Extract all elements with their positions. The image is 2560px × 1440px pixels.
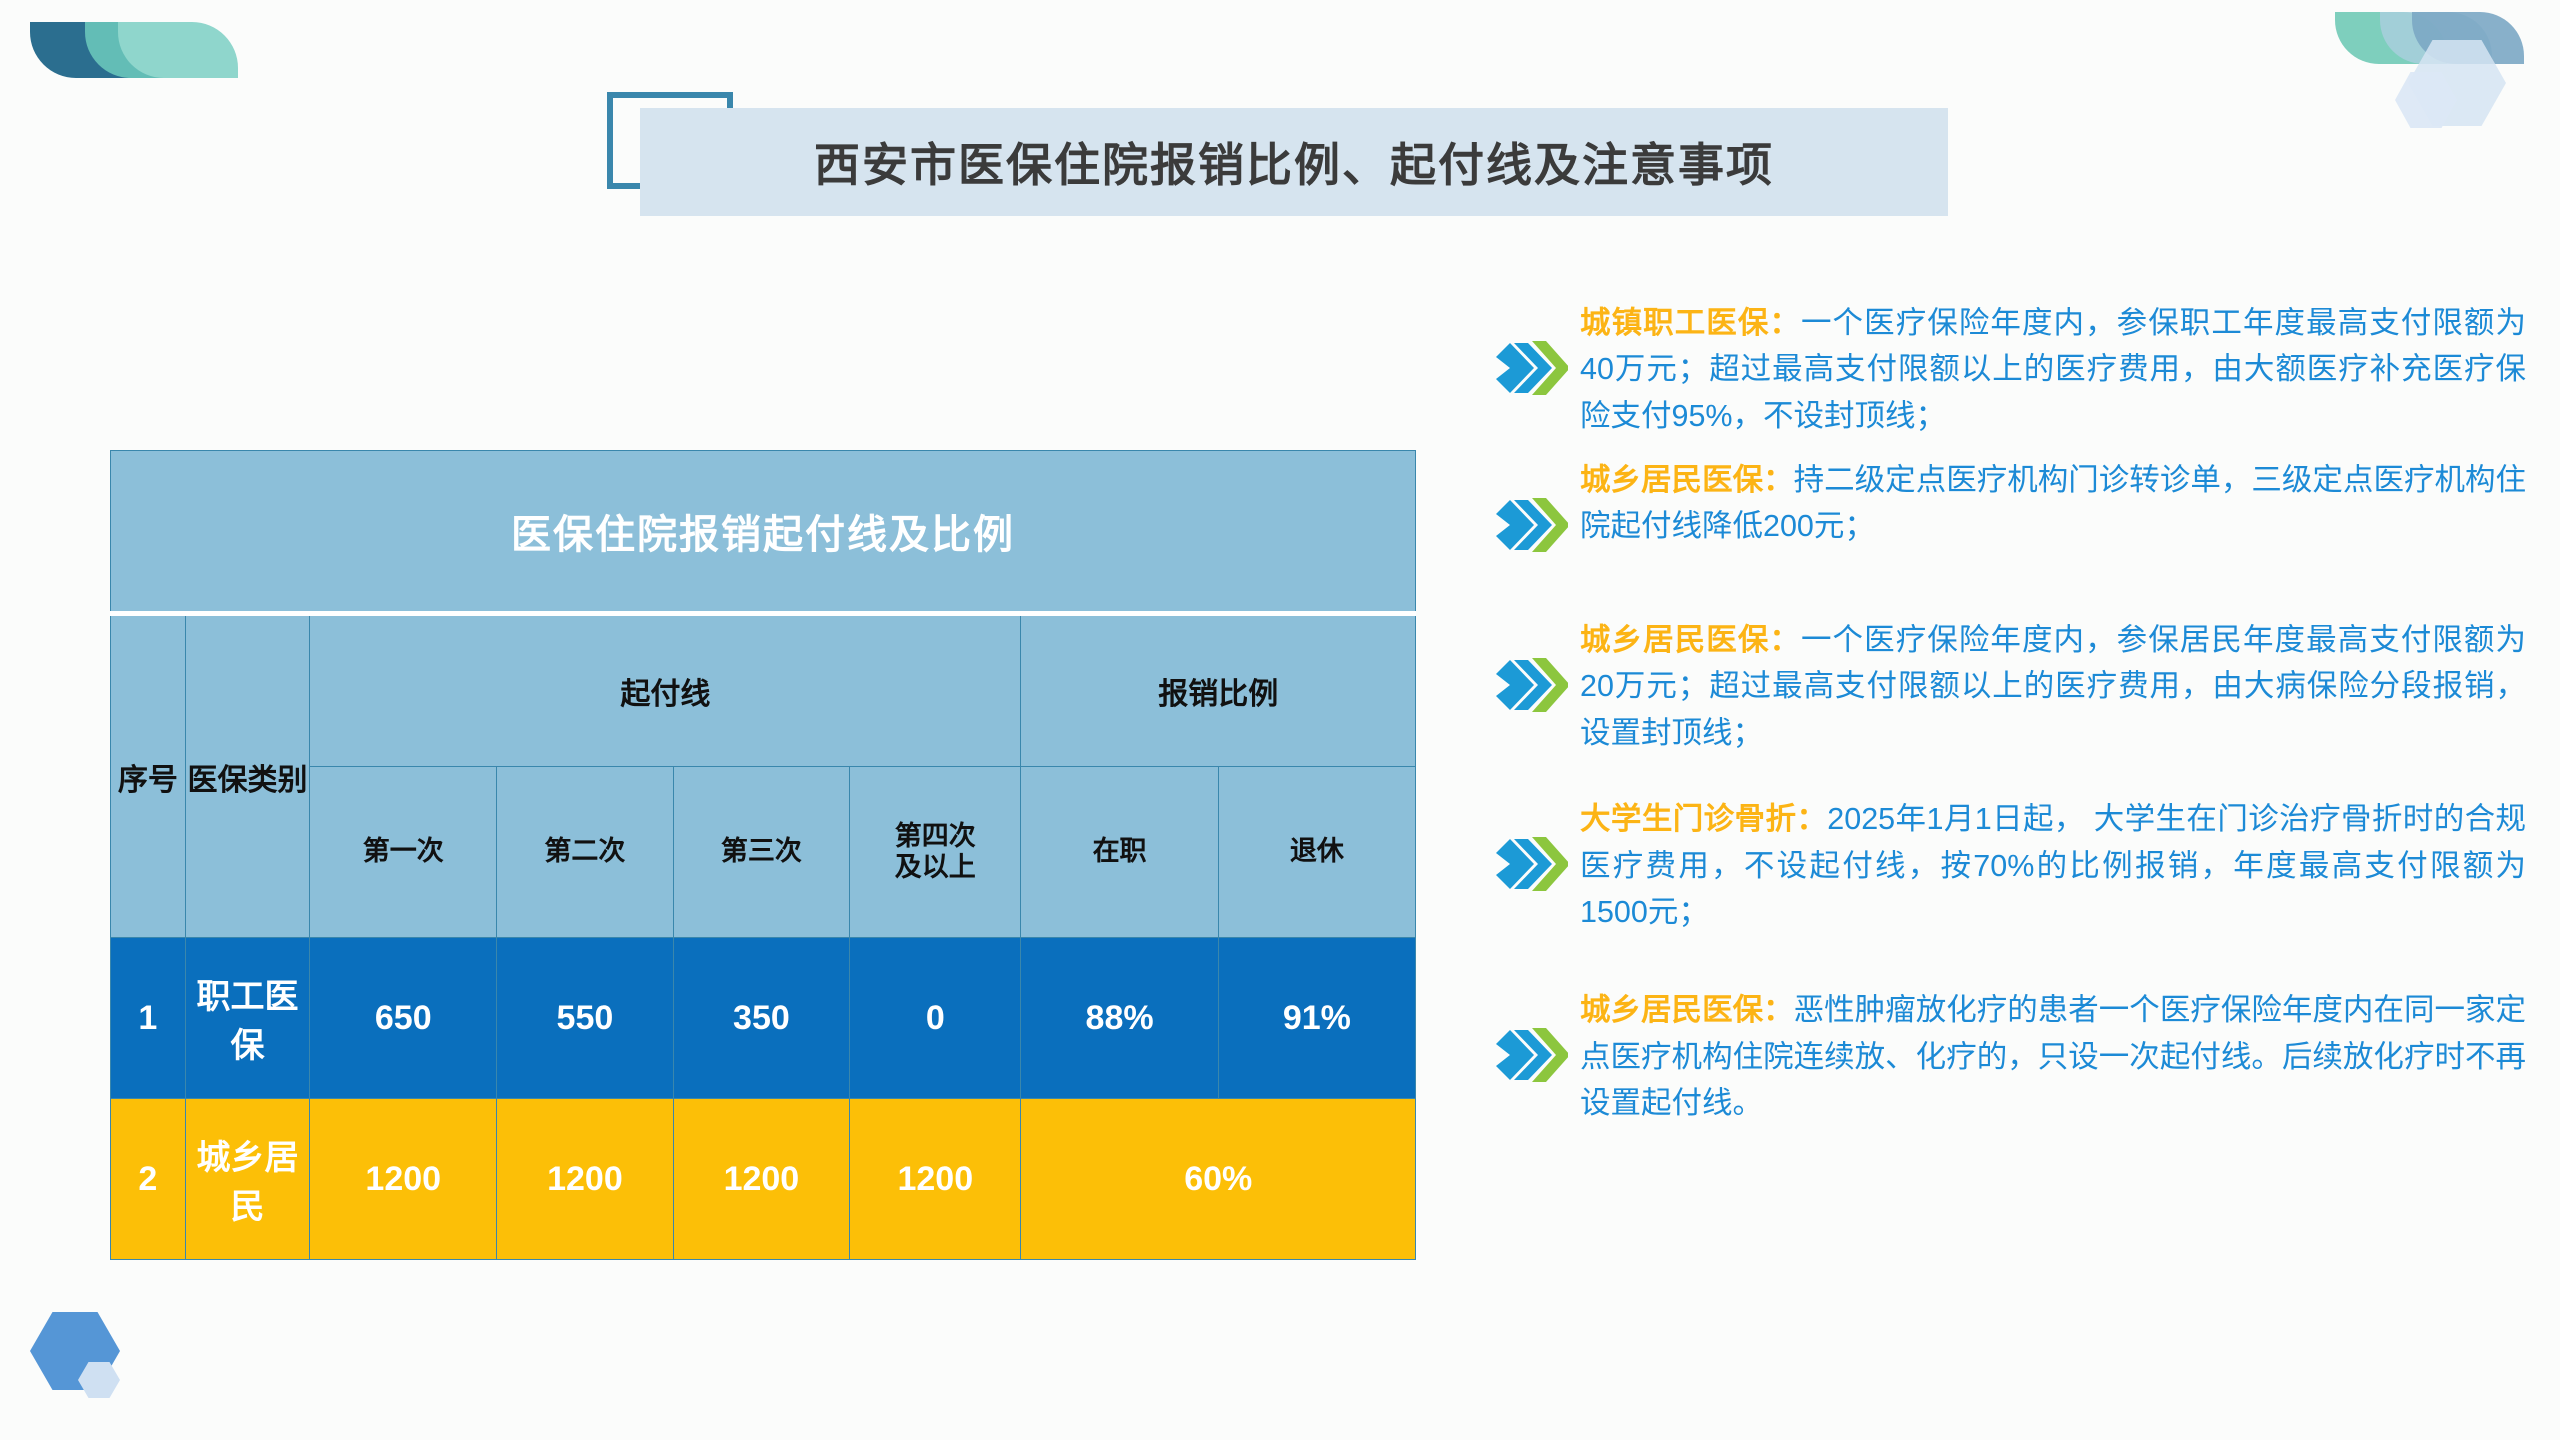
cell-first: 650 <box>310 938 497 1099</box>
note-body: 大学生门诊骨折：2025年1月1日起， 大学生在门诊治疗骨折时的合规医疗费用，不… <box>1580 796 2526 935</box>
header-category: 医保类别 <box>185 614 310 938</box>
double-chevron-icon <box>1496 830 1568 904</box>
header-index: 序号 <box>111 614 186 938</box>
cell-fourth: 0 <box>850 938 1021 1099</box>
ribbon-shape-green <box>2335 12 2447 64</box>
header-third-visit: 第三次 <box>673 767 849 938</box>
list-item: 城乡居民医保：恶性肿瘤放化疗的患者一个医疗保险年度内在同一家定点医疗机构住院连续… <box>1496 987 2526 1126</box>
header-active-employee: 在职 <box>1021 767 1218 938</box>
header-first-visit: 第一次 <box>310 767 497 938</box>
table-caption-row: 医保住院报销起付线及比例 <box>111 451 1416 614</box>
hexagon-small <box>2395 72 2457 128</box>
decoration-bottom-left <box>0 1270 200 1440</box>
cell-index: 2 <box>111 1099 186 1260</box>
title-banner: 西安市医保住院报销比例、起付线及注意事项 <box>640 108 1948 216</box>
spacer <box>1496 774 2526 796</box>
spacer <box>1496 583 2526 617</box>
ribbon-shape-teal <box>85 22 205 78</box>
list-item: 大学生门诊骨折：2025年1月1日起， 大学生在门诊治疗骨折时的合规医疗费用，不… <box>1496 796 2526 935</box>
note-body: 城乡居民医保：恶性肿瘤放化疗的患者一个医疗保险年度内在同一家定点医疗机构住院连续… <box>1580 987 2526 1126</box>
header-fourth-visit-line1: 第四次 <box>850 821 1020 852</box>
cell-merged-rate: 60% <box>1021 1099 1416 1260</box>
cell-second: 550 <box>497 938 673 1099</box>
ribbon-shape-pale-blue <box>2380 12 2492 64</box>
cell-retired-rate: 91% <box>1218 938 1415 1099</box>
cell-second: 1200 <box>497 1099 673 1260</box>
cell-category: 城乡居民 <box>185 1099 310 1260</box>
cell-index: 1 <box>111 938 186 1099</box>
header-retired: 退休 <box>1218 767 1415 938</box>
list-item: 城乡居民医保：持二级定点医疗机构门诊转诊单，三级定点医疗机构住院起付线降低200… <box>1496 457 2526 565</box>
double-chevron-icon <box>1496 334 1568 408</box>
header-deductible: 起付线 <box>310 614 1021 767</box>
cell-first: 1200 <box>310 1099 497 1260</box>
page-title: 西安市医保住院报销比例、起付线及注意事项 <box>814 129 1774 195</box>
double-chevron-icon <box>1496 651 1568 725</box>
table-caption: 医保住院报销起付线及比例 <box>111 451 1416 614</box>
cell-third: 350 <box>673 938 849 1099</box>
header-second-visit: 第二次 <box>497 767 673 938</box>
cell-fourth: 1200 <box>850 1099 1021 1260</box>
note-label: 城镇职工医保： <box>1580 306 1801 340</box>
spacer <box>1496 953 2526 987</box>
hexagon-small <box>78 1362 120 1398</box>
double-chevron-icon <box>1496 491 1568 565</box>
list-item: 城镇职工医保：一个医疗保险年度内，参保职工年度最高支付限额为40万元；超过最高支… <box>1496 300 2526 439</box>
note-label: 城乡居民医保： <box>1580 993 1794 1027</box>
header-fourth-visit: 第四次 及以上 <box>850 767 1021 938</box>
hexagon-large <box>2408 40 2506 126</box>
cell-active-rate: 88% <box>1021 938 1218 1099</box>
ribbon-shape-light-teal <box>118 22 238 78</box>
decoration-top-left <box>0 0 260 130</box>
note-body: 城乡居民医保：一个医疗保险年度内，参保居民年度最高支付限额为20万元；超过最高支… <box>1580 617 2526 756</box>
reimbursement-table: 医保住院报销起付线及比例 序号 医保类别 起付线 报销比例 第一次 第二次 第三… <box>110 450 1416 1260</box>
ribbon-shape-steel-blue <box>2412 12 2524 64</box>
header-fourth-visit-line2: 及以上 <box>850 852 1020 883</box>
header-reimbursement: 报销比例 <box>1021 614 1416 767</box>
note-label: 大学生门诊骨折： <box>1580 802 1827 836</box>
note-body: 城镇职工医保：一个医疗保险年度内，参保职工年度最高支付限额为40万元；超过最高支… <box>1580 300 2526 439</box>
double-chevron-icon <box>1496 1021 1568 1095</box>
ribbon-shape-dark-teal <box>30 22 150 78</box>
table-row: 2 城乡居民 1200 1200 1200 1200 60% <box>111 1099 1416 1260</box>
table-row: 1 职工医保 650 550 350 0 88% 91% <box>111 938 1416 1099</box>
list-item: 城乡居民医保：一个医疗保险年度内，参保居民年度最高支付限额为20万元；超过最高支… <box>1496 617 2526 756</box>
table-header-row-group: 序号 医保类别 起付线 报销比例 <box>111 614 1416 767</box>
cell-third: 1200 <box>673 1099 849 1260</box>
notes-list: 城镇职工医保：一个医疗保险年度内，参保职工年度最高支付限额为40万元；超过最高支… <box>1496 300 2526 1144</box>
note-body: 城乡居民医保：持二级定点医疗机构门诊转诊单，三级定点医疗机构住院起付线降低200… <box>1580 457 2526 550</box>
note-label: 城乡居民医保： <box>1580 623 1801 657</box>
hexagon-large <box>30 1312 120 1390</box>
note-label: 城乡居民医保： <box>1580 463 1794 497</box>
decoration-top-right <box>2360 0 2560 150</box>
cell-category: 职工医保 <box>185 938 310 1099</box>
